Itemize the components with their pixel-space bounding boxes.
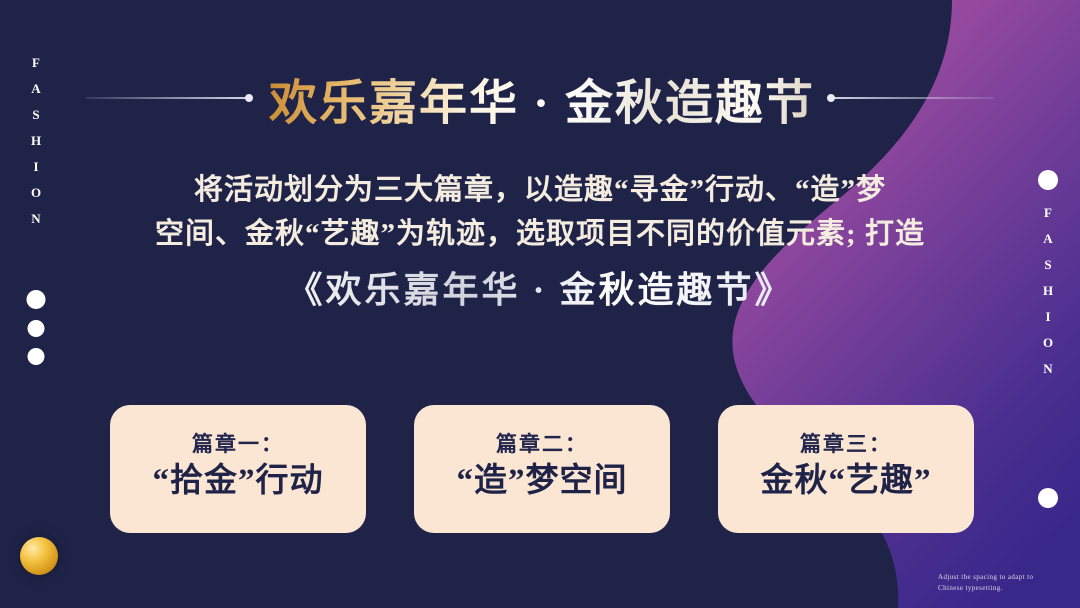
rail-dot-small	[28, 348, 45, 365]
footnote: Adjust the spacing to adapt to Chinese t…	[938, 572, 1066, 594]
title-rule-right	[829, 97, 994, 99]
body-line-2: 空间、金秋“艺趣”为轨迹，选取项目不同的价值元素; 打造	[130, 212, 950, 256]
body-line-1: 将活动划分为三大篇章，以造趣“寻金”行动、“造”梦	[130, 168, 950, 212]
chapter-card-3-kicker: 篇章三：	[800, 434, 892, 455]
right-rail-dot-bottom	[1038, 488, 1058, 508]
chapter-card-1-kicker: 篇章一：	[192, 434, 284, 455]
page-title: 欢乐嘉年华 · 金秋造趣节	[269, 63, 815, 133]
title-rule-left	[86, 97, 251, 99]
left-dot-stack	[27, 290, 46, 365]
gold-sphere-decoration	[20, 537, 58, 575]
chapter-card-3-headline: 金秋“艺趣”	[761, 463, 932, 500]
footnote-line-1: Adjust the spacing to adapt to	[938, 572, 1066, 583]
right-rail-label: FASHION	[1042, 205, 1055, 387]
chapter-card-1[interactable]: 篇章一： “拾金”行动	[110, 405, 366, 533]
title-row: 欢乐嘉年华 · 金秋造趣节	[0, 62, 1080, 134]
chapter-card-2-kicker: 篇章二：	[496, 434, 588, 455]
right-rail-dot-top	[1038, 170, 1058, 190]
body-paragraph: 将活动划分为三大篇章，以造趣“寻金”行动、“造”梦 空间、金秋“艺趣”为轨迹，选…	[130, 168, 950, 318]
footnote-line-2: Chinese typesetting.	[938, 583, 1066, 594]
chapter-card-2-headline: “造”梦空间	[457, 463, 628, 500]
chapter-card-3[interactable]: 篇章三： 金秋“艺趣”	[718, 405, 974, 533]
chapter-card-group: 篇章一： “拾金”行动 篇章二： “造”梦空间 篇章三： 金秋“艺趣”	[110, 405, 974, 533]
rail-dot-medium	[28, 320, 45, 337]
rail-dot-large	[27, 290, 46, 309]
chapter-card-2[interactable]: 篇章二： “造”梦空间	[414, 405, 670, 533]
slide-canvas: FASHION FASHION 欢乐嘉年华 · 金秋造趣节 将活动划分为三大篇章…	[0, 0, 1080, 608]
chapter-card-1-headline: “拾金”行动	[153, 463, 324, 500]
body-line-3-emphasis: 《欢乐嘉年华 · 金秋造趣节》	[130, 262, 950, 318]
